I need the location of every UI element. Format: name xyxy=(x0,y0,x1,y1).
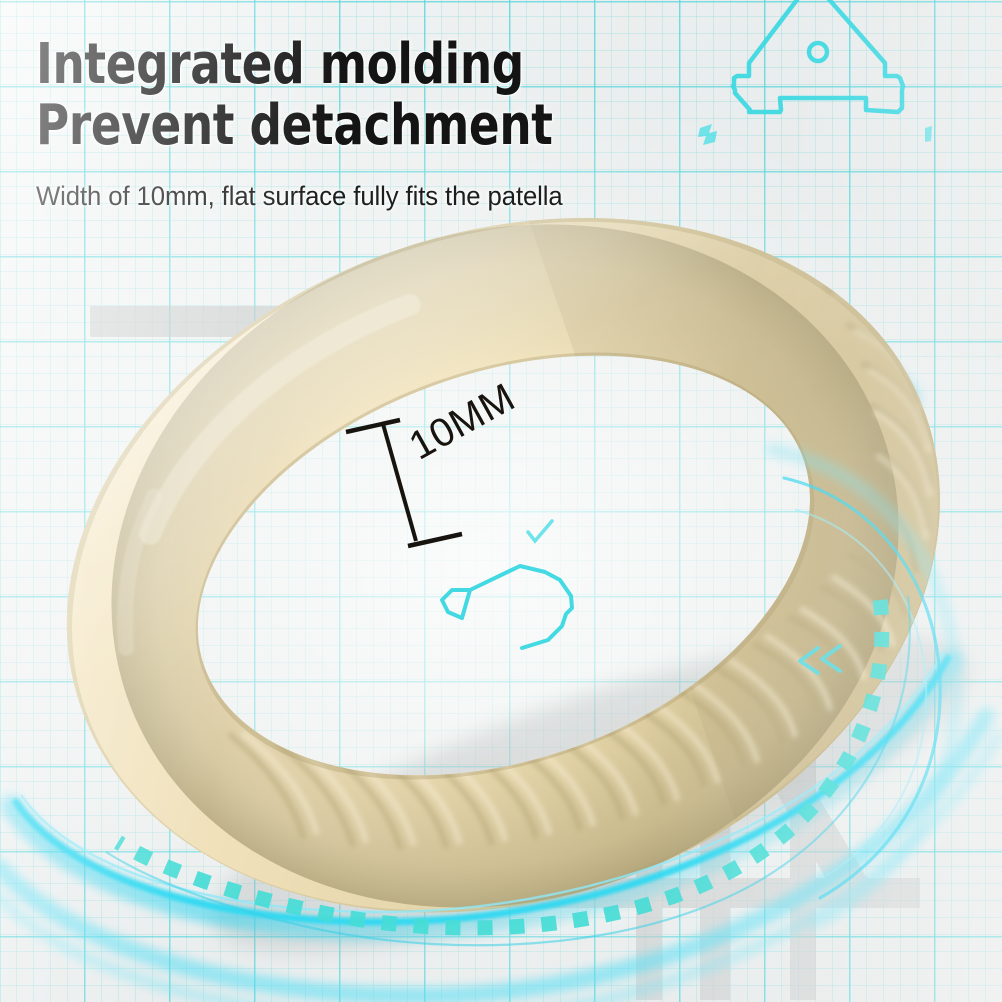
paper-sheen-overlay xyxy=(0,0,1002,1002)
product-image-canvas: 10MM Integrated molding Prevent detachme… xyxy=(0,0,1002,1002)
